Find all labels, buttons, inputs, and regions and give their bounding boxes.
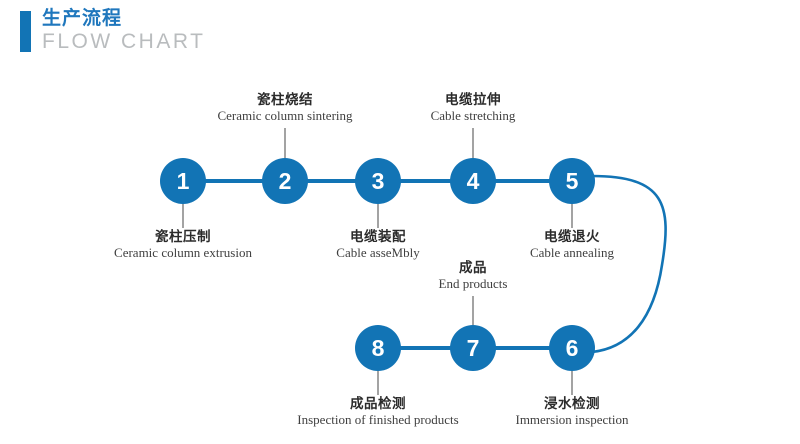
flow-node-7[interactable]: 7 [450, 325, 496, 371]
flow-label-step-7: 成品 End products [383, 259, 563, 292]
flow-label-step-7-cn: 成品 [383, 259, 563, 276]
flow-label-step-2: 瓷柱烧结 Ceramic column sintering [185, 91, 385, 124]
flow-label-step-8-en: Inspection of finished products [258, 412, 498, 428]
flow-label-step-1-cn: 瓷柱压制 [83, 228, 283, 245]
flow-label-step-5-cn: 电缆退火 [482, 228, 662, 245]
flow-label-step-8-cn: 成品检测 [258, 395, 498, 412]
flow-label-step-8: 成品检测 Inspection of finished products [258, 395, 498, 428]
flow-label-step-1-en: Ceramic column extrusion [83, 245, 283, 261]
flow-label-step-6-en: Immersion inspection [472, 412, 672, 428]
flow-node-1[interactable]: 1 [160, 158, 206, 204]
flow-label-step-2-en: Ceramic column sintering [185, 108, 385, 124]
flow-diagram: 1 2 3 4 5 6 7 8 瓷柱压制 Ceramic column extr… [0, 0, 800, 444]
flow-label-step-3-cn: 电缆装配 [288, 228, 468, 245]
flow-label-step-6-cn: 浸水检测 [472, 395, 672, 412]
flow-node-5[interactable]: 5 [549, 158, 595, 204]
flow-label-step-4-cn: 电缆拉伸 [383, 91, 563, 108]
flow-chart-page: 生产流程 FLOW CHART 1 [0, 0, 800, 444]
flow-node-6[interactable]: 6 [549, 325, 595, 371]
flow-node-3[interactable]: 3 [355, 158, 401, 204]
flow-label-step-1: 瓷柱压制 Ceramic column extrusion [83, 228, 283, 261]
flow-label-step-7-en: End products [383, 276, 563, 292]
flow-label-step-3: 电缆装配 Cable asseMbly [288, 228, 468, 261]
flow-node-4[interactable]: 4 [450, 158, 496, 204]
flow-label-step-6: 浸水检测 Immersion inspection [472, 395, 672, 428]
flow-label-step-4-en: Cable stretching [383, 108, 563, 124]
flow-node-2[interactable]: 2 [262, 158, 308, 204]
flow-label-step-2-cn: 瓷柱烧结 [185, 91, 385, 108]
flow-node-8[interactable]: 8 [355, 325, 401, 371]
connector-5-to-6-curve [592, 176, 666, 352]
flow-label-step-5: 电缆退火 Cable annealing [482, 228, 662, 261]
flow-connectors-svg [0, 0, 800, 444]
flow-label-step-4: 电缆拉伸 Cable stretching [383, 91, 563, 124]
